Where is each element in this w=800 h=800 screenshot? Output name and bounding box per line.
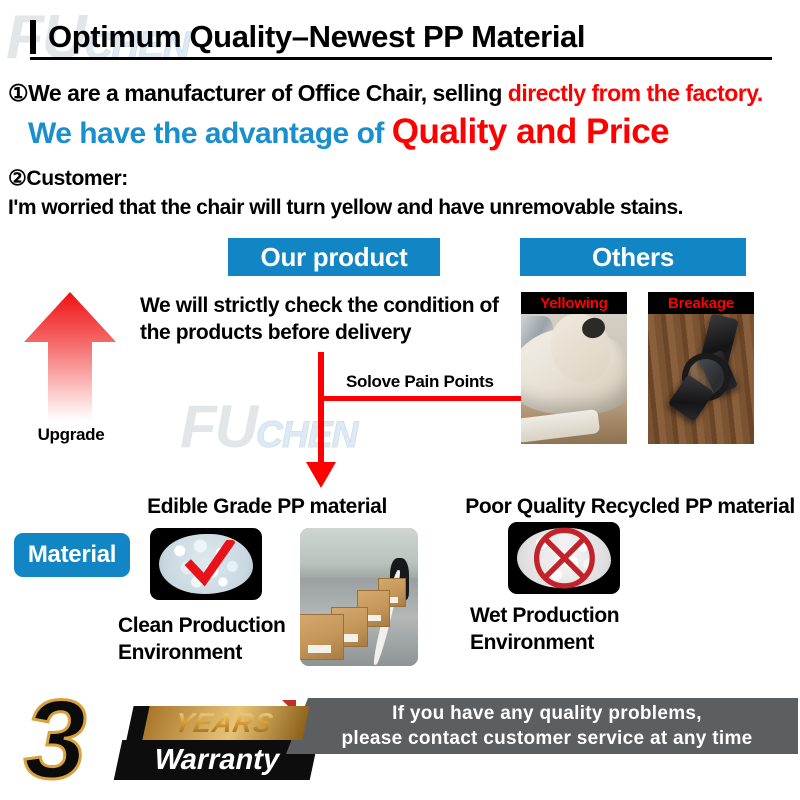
manufacturer-statement: ①We are a manufacturer of Office Chair, …: [8, 80, 798, 107]
title-text: Optimum Quality–Newest PP Material: [48, 21, 585, 54]
our-product-header: Our product: [228, 238, 440, 276]
checkmark-icon: [184, 540, 236, 588]
yellowing-photo-image: [521, 292, 627, 444]
prohibition-icon: [523, 525, 606, 591]
warranty-number: 3: [24, 684, 82, 796]
material-badge: Material: [14, 533, 130, 577]
warranty-message: If you have any quality problems, please…: [300, 702, 794, 750]
manufacturer-statement-highlight: directly from the factory.: [508, 80, 763, 106]
warranty-message-line1: If you have any quality problems,: [392, 701, 702, 726]
horizontal-connector-line: [318, 396, 530, 401]
yellowing-photo: Yellowing: [521, 292, 627, 444]
solve-pain-points-label: Solove Pain Points: [343, 372, 497, 392]
watermark-center: FUCHEN: [180, 392, 357, 461]
upgrade-label: Upgrade: [28, 425, 114, 445]
poor-quality-heading: Poor Quality Recycled PP material: [460, 495, 800, 519]
breakage-photo-image: [648, 292, 754, 444]
advantage-statement: We have the advantage of Quality and Pri…: [28, 112, 800, 152]
others-header: Others: [520, 238, 746, 276]
warranty-years-label: YEARS: [137, 708, 311, 738]
recycled-pellets-photo: [508, 522, 620, 594]
warranty-label: Warranty: [122, 742, 312, 778]
down-arrow-head-icon: [306, 462, 336, 488]
breakage-photo: Breakage: [648, 292, 754, 444]
vertical-connector-line: [318, 352, 324, 468]
manufacturer-statement-lead: ①We are a manufacturer of Office Chair, …: [8, 80, 508, 106]
yellowing-caption: Yellowing: [521, 292, 627, 314]
advantage-emphasis-text: Quality and Price: [392, 112, 669, 151]
clean-production-caption: Clean Production Environment: [118, 613, 308, 667]
customer-label: ②Customer:: [8, 166, 128, 191]
our-product-description: We will strictly check the condition of …: [140, 292, 510, 347]
advantage-lead-text: We have the advantage of: [28, 117, 392, 150]
warranty-message-line2: please contact customer service at any t…: [341, 726, 752, 751]
warehouse-photo: [300, 528, 418, 666]
watermark-fu-text: FU: [180, 393, 256, 460]
page-title: Optimum Quality–Newest PP Material: [30, 20, 772, 60]
edible-grade-heading: Edible Grade PP material: [122, 495, 412, 519]
upgrade-arrow-icon: [22, 290, 118, 422]
wet-production-caption: Wet Production Environment: [470, 603, 700, 657]
carton-label: [308, 645, 332, 654]
breakage-caption: Breakage: [648, 292, 754, 314]
product-infographic: FUCHEN FUCHEN FUCHEN Optimum Quality–New…: [0, 0, 800, 800]
watermark-chen-text: CHEN: [256, 413, 357, 455]
title-accent-bar: [30, 20, 36, 54]
edible-pellets-photo: [150, 528, 262, 600]
customer-quote: I'm worried that the chair will turn yel…: [8, 196, 683, 220]
